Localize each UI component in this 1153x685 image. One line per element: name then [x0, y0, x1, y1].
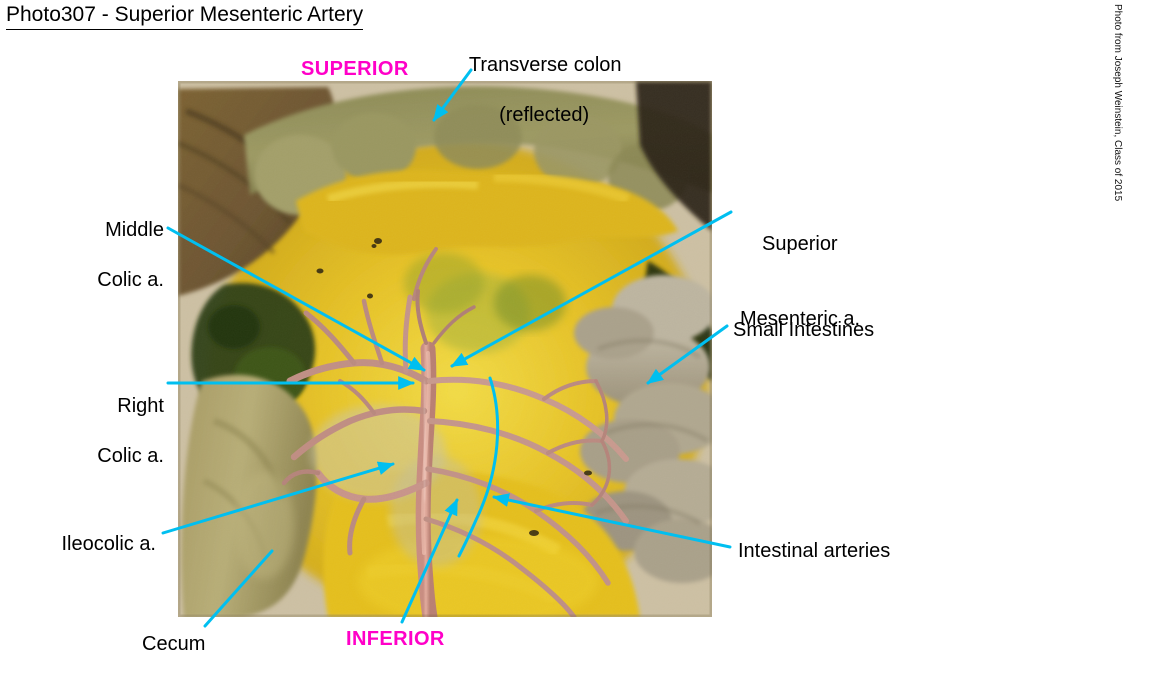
- slide-canvas: Photo307 - Superior Mesenteric Artery Ph…: [0, 0, 1153, 685]
- anatomy-photo: [178, 81, 712, 617]
- label-middle-colic: Middle Colic a.: [4, 193, 164, 318]
- orientation-inferior: INFERIOR: [346, 627, 445, 651]
- label-superior-mesenteric: Superior Mesenteric a.: [740, 182, 960, 382]
- label-right-colic: Right Colic a.: [4, 369, 164, 494]
- page-title: Photo307 - Superior Mesenteric Artery: [6, 2, 363, 30]
- orientation-superior: SUPERIOR: [301, 57, 409, 81]
- label-small-intestines: Small Intestines: [733, 318, 874, 343]
- label-cecum: Cecum: [142, 632, 205, 657]
- label-transverse-colon: Transverse colon (reflected): [447, 28, 619, 153]
- label-ileocolic: Ileocolic a.: [4, 532, 156, 557]
- photo-credit: Photo from Joseph Weinstein, Class of 20…: [1111, 4, 1123, 201]
- label-intestinal-arteries: Intestinal arteries: [738, 539, 890, 564]
